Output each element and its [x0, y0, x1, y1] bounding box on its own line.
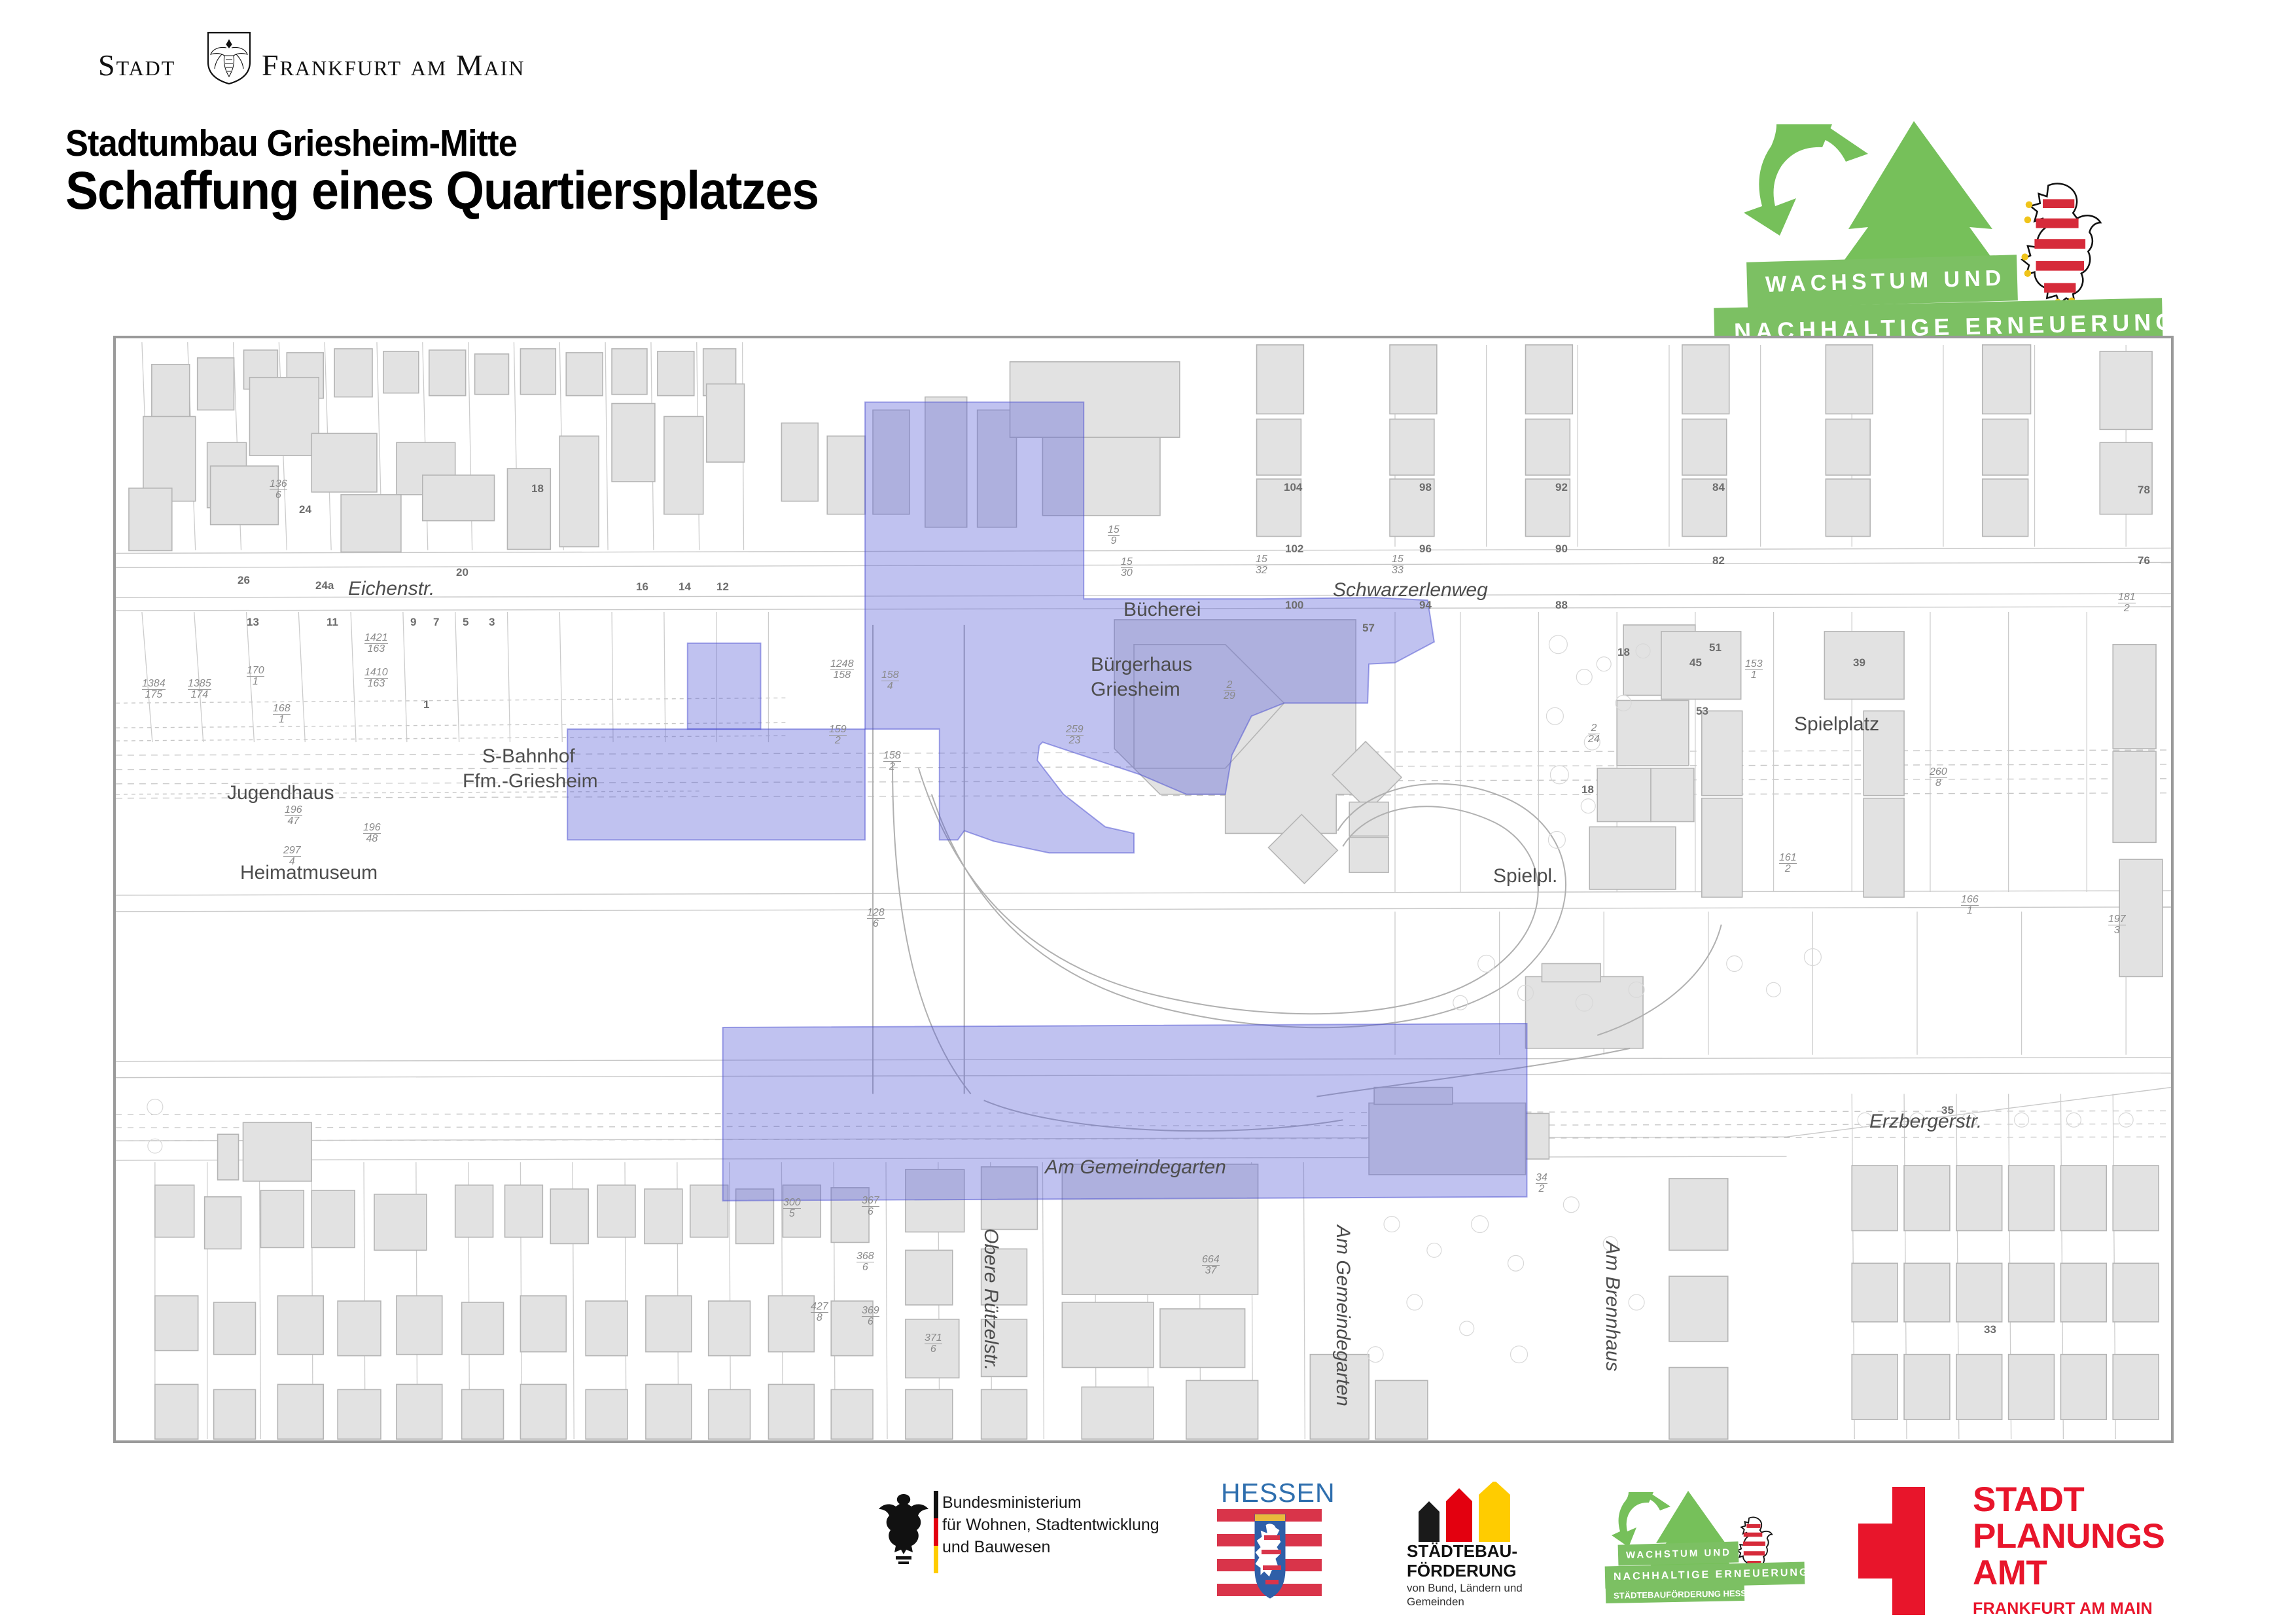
- map-canvas: [116, 338, 2171, 1440]
- bmwsb-line3: und Bauwesen: [942, 1537, 1159, 1559]
- program-small-line1: WACHSTUM UND: [1618, 1541, 1739, 1565]
- city-logo-frankfurt: Frankfurt am Main: [262, 48, 525, 82]
- hessen-lion-icon: [1738, 1517, 1772, 1569]
- staedtebau-title2: FÖRDERUNG: [1407, 1561, 1517, 1581]
- staedtebaufoerderung-logo: STÄDTEBAU- FÖRDERUNG von Bund, Ländern u…: [1407, 1482, 1557, 1599]
- stadtplanungsamt-logo: STADT PLANUNGS AMT FRANKFURT AM MAIN: [1852, 1484, 2192, 1609]
- bmwsb-logo: Bundesministerium für Wohnen, Stadtentwi…: [874, 1488, 1174, 1580]
- frankfurt-eagle-crest-icon: [206, 31, 252, 86]
- cadastral-map[interactable]: Eichenstr. Schwarzerlenweg Erzbergerstr.…: [113, 336, 2174, 1443]
- flag-red-bar: [934, 1518, 938, 1546]
- program-small-line3: STÄDTEBAUFÖRDERUNG HESSEN: [1606, 1585, 1744, 1603]
- program-logo-small: WACHSTUM UND NACHHALTIGE ERNEUERUNG STÄD…: [1606, 1487, 1790, 1598]
- footer-logo-bar: Bundesministerium für Wohnen, Stadtentwi…: [0, 1472, 2296, 1623]
- stadtplanung-line2: PLANUNGS: [1973, 1518, 2164, 1555]
- hessen-lion-icon: [2021, 184, 2100, 306]
- staedtebau-sub2: Gemeinden: [1407, 1595, 1523, 1609]
- city-logo: Stadt Frankfurt am Main: [98, 36, 517, 85]
- hessen-logo: HESSEN: [1217, 1479, 1335, 1600]
- hessen-wordmark: HESSEN: [1221, 1478, 1335, 1508]
- bmwsb-line1: Bundesministerium: [942, 1492, 1159, 1514]
- stadtplanung-subtitle: FRANKFURT AM MAIN: [1973, 1599, 2153, 1618]
- stadtplanung-line3: AMT: [1973, 1555, 2164, 1592]
- program-band-line1: WACHSTUM UND: [1746, 255, 2018, 308]
- flag-gold-bar: [934, 1546, 938, 1573]
- stadtplanung-line1: STADT: [1973, 1482, 2164, 1518]
- city-logo-stadt: Stadt: [98, 48, 175, 82]
- flag-black-bar: [934, 1491, 938, 1518]
- hessen-shield-lion-icon: [1217, 1509, 1335, 1601]
- program-small-line2: NACHHALTIGE ERNEUERUNG: [1605, 1562, 1805, 1589]
- staedtebau-title1: STÄDTEBAU-: [1407, 1542, 1517, 1561]
- recycle-arrow-icon: [1744, 124, 1868, 236]
- bmwsb-line2: für Wohnen, Stadtentwicklung: [942, 1514, 1159, 1537]
- project-subtitle: Stadtumbau Griesheim-Mitte: [65, 122, 517, 165]
- stadtplanungsamt-block-icon: [1852, 1487, 1960, 1615]
- three-houses-icon: [1412, 1482, 1536, 1542]
- staedtebau-sub1: von Bund, Ländern und: [1407, 1581, 1523, 1595]
- page-title: Schaffung eines Quartiersplatzes: [65, 160, 819, 222]
- bundesadler-icon: [874, 1492, 936, 1571]
